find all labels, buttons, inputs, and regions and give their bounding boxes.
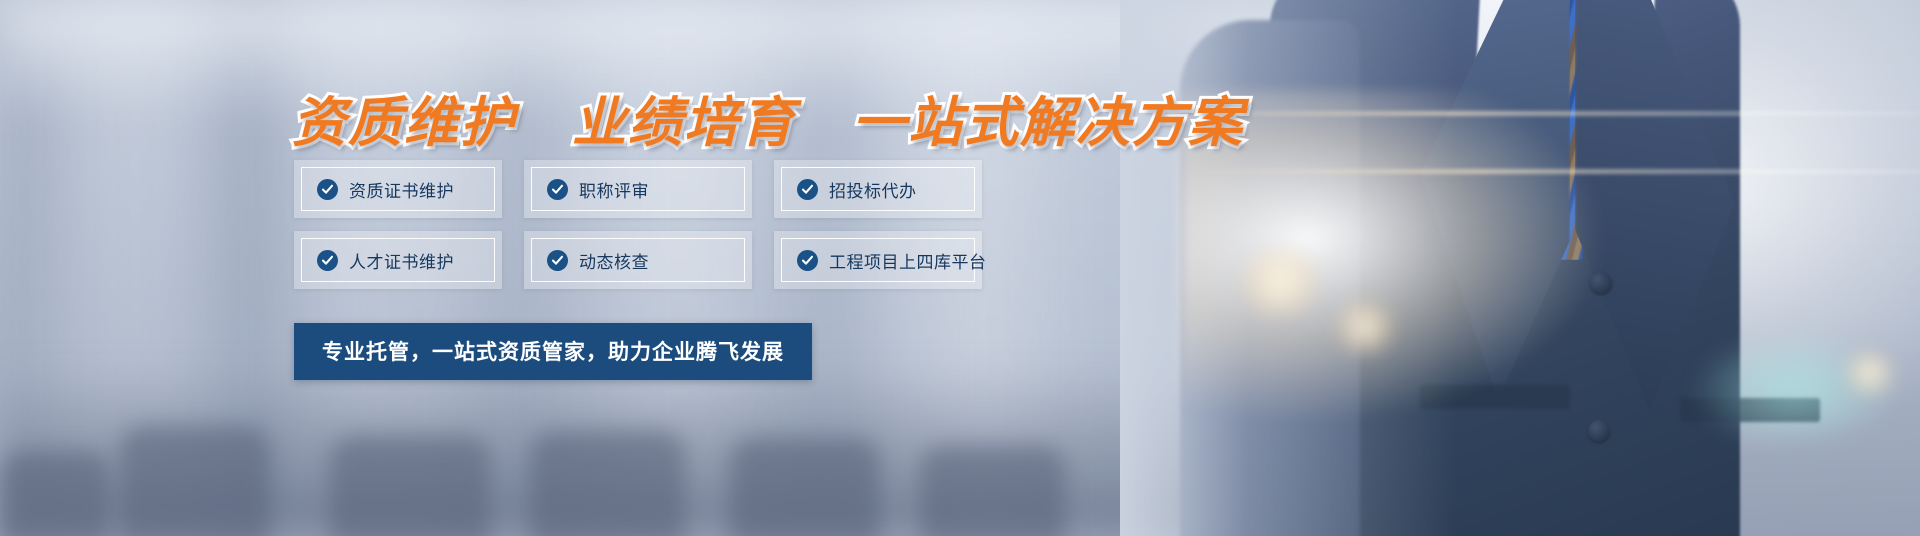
banner-content: 资质维护 业绩培育 一站式解决方案 资质证书维护 职称评审	[0, 0, 1100, 536]
hero-banner: 资质维护 业绩培育 一站式解决方案 资质证书维护 职称评审	[0, 0, 1920, 536]
lens-flare-blob	[1330, 300, 1400, 355]
feature-item-bidding-agency[interactable]: 招投标代办	[774, 160, 982, 218]
headline: 资质维护 业绩培育 一站式解决方案	[292, 78, 1244, 157]
tagline-bar: 专业托管，一站式资质管家，助力企业腾飞发展	[294, 323, 812, 380]
feature-item-qualification-certificate-maintenance[interactable]: 资质证书维护	[294, 160, 502, 218]
feature-item-talent-certificate-maintenance[interactable]: 人才证书维护	[294, 231, 502, 289]
check-circle-icon	[317, 179, 338, 200]
feature-inner: 人才证书维护	[301, 238, 495, 282]
feature-inner: 招投标代办	[781, 167, 975, 211]
check-circle-icon	[317, 250, 338, 271]
lens-flare-blob	[1840, 350, 1900, 396]
feature-item-project-four-database-platform[interactable]: 工程项目上四库平台	[774, 231, 982, 289]
lens-flare-blob	[1235, 248, 1325, 318]
feature-label: 动态核查	[579, 248, 649, 273]
feature-item-dynamic-inspection[interactable]: 动态核查	[524, 231, 752, 289]
check-circle-icon	[797, 179, 818, 200]
feature-label: 职称评审	[579, 177, 649, 202]
check-circle-icon	[797, 250, 818, 271]
feature-inner: 资质证书维护	[301, 167, 495, 211]
feature-inner: 动态核查	[531, 238, 745, 282]
feature-label: 工程项目上四库平台	[829, 248, 987, 273]
feature-item-title-evaluation[interactable]: 职称评审	[524, 160, 752, 218]
feature-inner: 职称评审	[531, 167, 745, 211]
feature-grid: 资质证书维护 职称评审 招投标代办	[294, 160, 982, 289]
lens-flare-streak	[1150, 112, 1920, 115]
feature-label: 招投标代办	[829, 177, 917, 202]
lens-flare-streak	[1180, 170, 1920, 173]
feature-label: 资质证书维护	[349, 177, 454, 202]
feature-inner: 工程项目上四库平台	[781, 238, 975, 282]
check-circle-icon	[547, 250, 568, 271]
check-circle-icon	[547, 179, 568, 200]
feature-label: 人才证书维护	[349, 248, 454, 273]
